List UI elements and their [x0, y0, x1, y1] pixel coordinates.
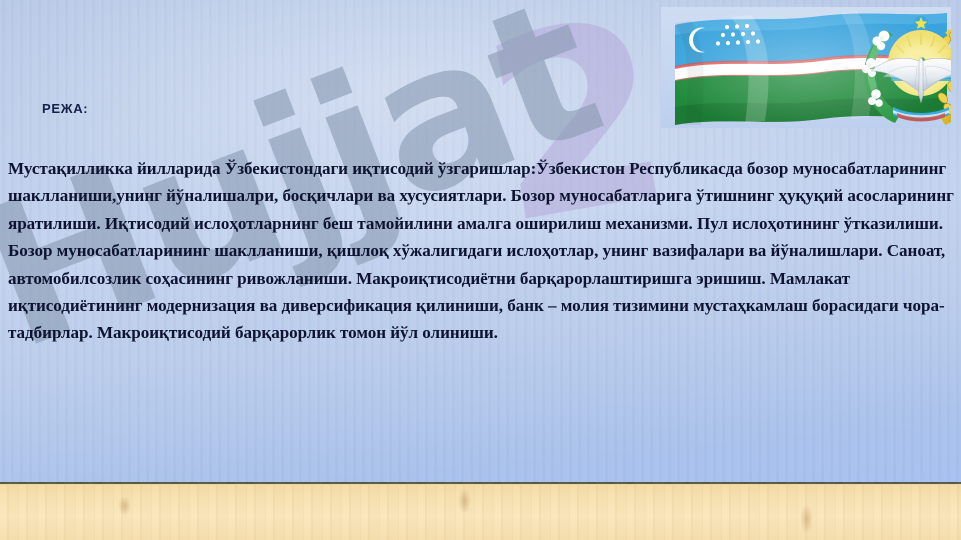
flag-svg	[661, 7, 951, 128]
desk-grain	[0, 482, 961, 540]
emblem-star	[914, 16, 928, 30]
desk-knot	[458, 488, 471, 514]
slide-body-text: Мустақилликка йилларида Ўзбекистондаги и…	[8, 155, 954, 347]
presentation-slide: 2 Hujjat	[0, 0, 961, 540]
uzbekistan-flag-image	[661, 7, 951, 128]
section-label: РЕЖА:	[42, 101, 88, 116]
desk-knot	[800, 504, 813, 534]
desk-knot	[118, 496, 131, 516]
desk-surface	[0, 482, 961, 540]
